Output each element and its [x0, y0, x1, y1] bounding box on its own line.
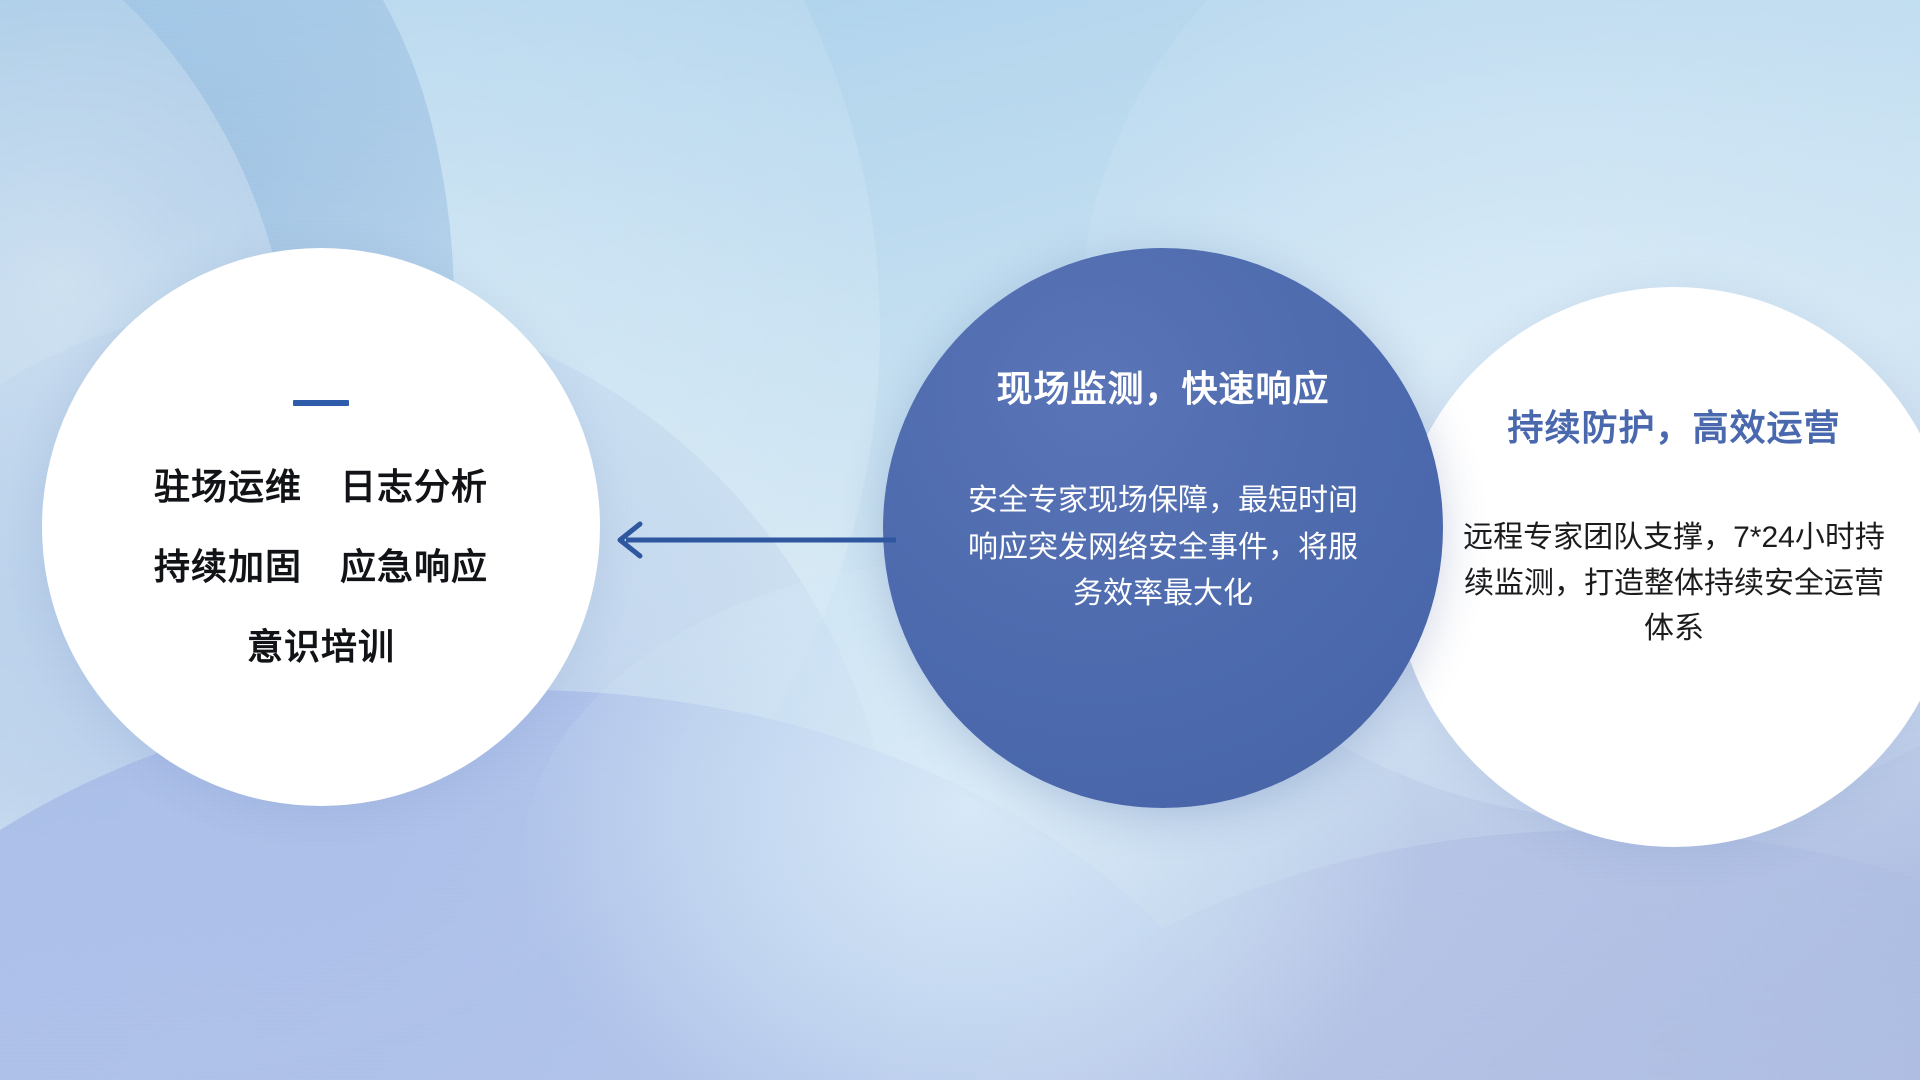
right-capability-circle[interactable]: 持续防护，高效运营 远程专家团队支撑，7*24小时持续监测，打造整体持续安全运营…	[1394, 287, 1920, 847]
capability-tag-list: 驻场运维 日志分析 持续加固 应急响应 意识培训	[42, 458, 600, 670]
capability-tag: 应急响应	[340, 538, 488, 590]
capability-tag-row: 持续加固 应急响应	[154, 538, 488, 590]
right-circle-title: 持续防护，高效运营	[1507, 399, 1840, 451]
left-capability-circle[interactable]: 驻场运维 日志分析 持续加固 应急响应 意识培训	[42, 248, 600, 806]
middle-capability-circle[interactable]: 现场监测，快速响应 安全专家现场保障，最短时间响应突发网络安全事件，将服务效率最…	[883, 248, 1443, 808]
capability-tag-row: 意识培训	[247, 618, 395, 670]
right-circle-body: 远程专家团队支撑，7*24小时持续监测，打造整体持续安全运营体系	[1454, 515, 1894, 652]
middle-circle-body: 安全专家现场保障，最短时间响应突发网络安全事件，将服务效率最大化	[963, 478, 1363, 618]
dash-divider-icon	[293, 400, 349, 406]
left-arrow-icon	[600, 520, 896, 560]
middle-circle-title: 现场监测，快速响应	[996, 360, 1329, 412]
diagram-stage: 驻场运维 日志分析 持续加固 应急响应 意识培训 持续防护，高效运营 远程专家团…	[0, 0, 1920, 1080]
capability-tag: 日志分析	[340, 458, 488, 510]
capability-tag: 意识培训	[247, 618, 395, 670]
capability-tag: 持续加固	[154, 538, 302, 590]
capability-tag: 驻场运维	[154, 458, 302, 510]
capability-tag-row: 驻场运维 日志分析	[154, 458, 488, 510]
